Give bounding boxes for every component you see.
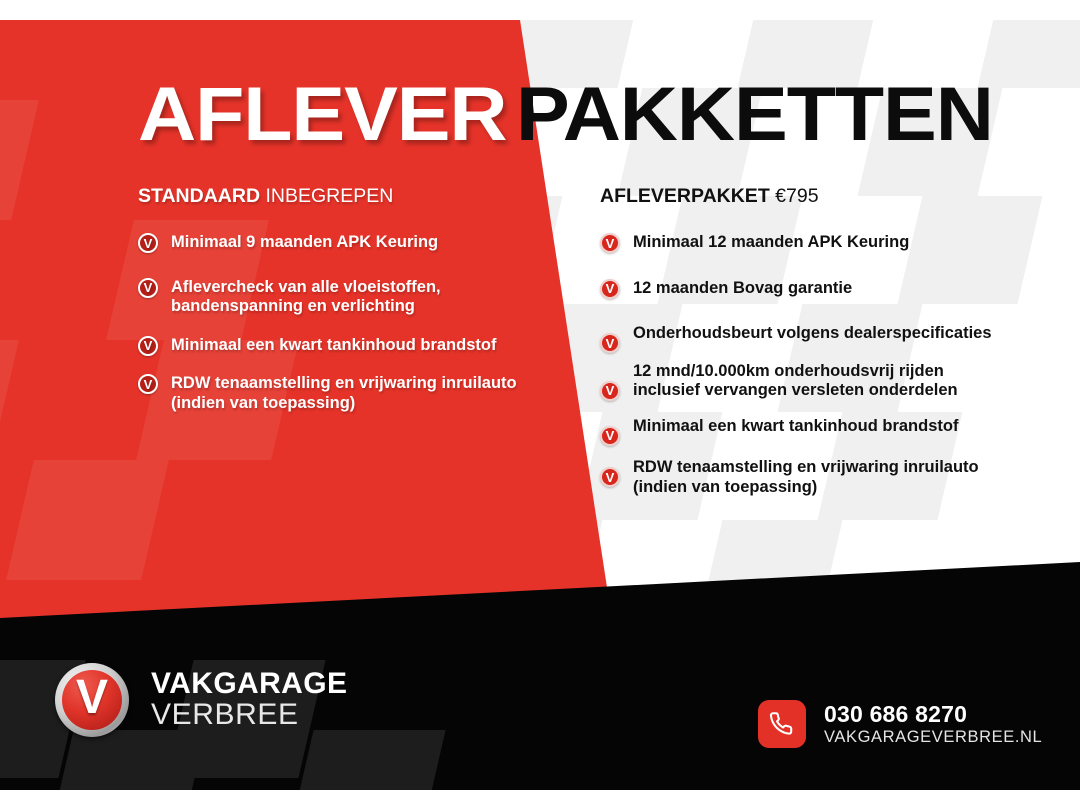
v-glyph: V [140, 376, 156, 392]
website-url[interactable]: VAKGARAGEVERBREE.NL [824, 728, 1042, 746]
phone-handset-icon[interactable] [758, 700, 806, 748]
vakgarage-logo-icon: V [55, 663, 129, 737]
list-item: V Onderhoudsbeurt volgens dealerspecific… [600, 324, 1000, 343]
list-item: V 12 maanden Bovag garantie [600, 279, 1000, 298]
right-subtitle-strong: AFLEVERPAKKET [600, 185, 770, 207]
vakgarage-v-badge-icon: V [600, 381, 620, 401]
list-item: V 12 mnd/10.000km onderhoudsvrij rijden … [600, 362, 1000, 401]
left-subtitle-strong: STANDAARD [138, 185, 260, 207]
brand-name-line2: VERBREE [151, 700, 347, 731]
contact-details: 030 686 8270 VAKGARAGEVERBREE.NL [824, 702, 1042, 746]
list-item-label: Minimaal 9 maanden APK Keuring [171, 233, 438, 251]
top-margin-strip [0, 0, 1080, 20]
page-title-word-aflever: AFLEVER [138, 77, 507, 153]
vakgarage-v-badge-icon: V [600, 233, 620, 253]
v-glyph: V [602, 428, 618, 444]
bottom-margin-strip [0, 790, 1080, 810]
list-item-label: Onderhoudsbeurt volgens dealerspecificat… [633, 324, 992, 342]
v-glyph: V [602, 383, 618, 399]
list-item: V Minimaal 9 maanden APK Keuring [138, 233, 528, 252]
vakgarage-v-badge-icon: V [138, 336, 158, 356]
v-glyph: V [140, 280, 156, 296]
list-item: V Minimaal 12 maanden APK Keuring [600, 233, 1000, 252]
logo-v-glyph: V [55, 663, 129, 737]
vakgarage-v-badge-icon: V [138, 374, 158, 394]
vakgarage-v-badge-icon: V [600, 333, 620, 353]
list-item-label: Minimaal een kwart tankinhoud brandstof [171, 336, 496, 354]
page-title-word-pakketten: PAKKETTEN [516, 77, 993, 153]
left-subtitle-light: INBEGREPEN [265, 185, 393, 207]
v-glyph: V [602, 235, 618, 251]
brand-name: VAKGARAGE VERBREE [151, 669, 347, 730]
vakgarage-v-badge-icon: V [600, 467, 620, 487]
list-item-label: 12 mnd/10.000km onderhoudsvrij rijden in… [633, 362, 958, 399]
list-item: V Aflevercheck van alle vloeistoffen, ba… [138, 278, 528, 317]
list-item-label: RDW tenaamstelling en vrijwaring inruila… [633, 458, 979, 495]
contact-block[interactable]: 030 686 8270 VAKGARAGEVERBREE.NL [758, 700, 1042, 748]
standaard-inbegrepen-column: STANDAARD INBEGREPEN V Minimaal 9 maande… [138, 186, 528, 413]
vakgarage-v-badge-icon: V [600, 279, 620, 299]
list-item: V Minimaal een kwart tankinhoud brandsto… [600, 417, 1000, 436]
phone-number[interactable]: 030 686 8270 [824, 702, 1042, 728]
list-item-label: Minimaal een kwart tankinhoud brandstof [633, 417, 958, 435]
left-column-subtitle: STANDAARD INBEGREPEN [138, 186, 528, 207]
left-column-list: V Minimaal 9 maanden APK Keuring V Aflev… [138, 233, 528, 413]
afleverpakket-column: AFLEVERPAKKET €795 V Minimaal 12 maanden… [600, 186, 1000, 497]
list-item: V RDW tenaamstelling en vrijwaring inrui… [600, 458, 1000, 497]
v-glyph: V [602, 281, 618, 297]
v-glyph: V [602, 335, 618, 351]
brand-logo-block: V VAKGARAGE VERBREE [55, 663, 347, 737]
v-glyph: V [140, 338, 156, 354]
list-item: V RDW tenaamstelling en vrijwaring inrui… [138, 374, 528, 413]
right-column-subtitle: AFLEVERPAKKET €795 [600, 186, 1000, 207]
afleverpakketten-poster: AFLEVER PAKKETTEN STANDAARD INBEGREPEN V… [0, 0, 1080, 810]
list-item-label: RDW tenaamstelling en vrijwaring inruila… [171, 374, 517, 411]
vakgarage-v-badge-icon: V [138, 278, 158, 298]
right-column-list: V Minimaal 12 maanden APK Keuring V 12 m… [600, 233, 1000, 497]
list-item: V Minimaal een kwart tankinhoud brandsto… [138, 336, 528, 355]
list-item-label: 12 maanden Bovag garantie [633, 279, 852, 297]
vakgarage-v-badge-icon: V [138, 233, 158, 253]
v-glyph: V [602, 469, 618, 485]
v-glyph: V [140, 235, 156, 251]
list-item-label: Aflevercheck van alle vloeistoffen, band… [171, 278, 441, 315]
page-title: AFLEVER PAKKETTEN [0, 70, 1080, 160]
vakgarage-v-badge-icon: V [600, 426, 620, 446]
right-subtitle-price: €795 [775, 185, 818, 207]
brand-name-line1: VAKGARAGE [151, 669, 347, 700]
list-item-label: Minimaal 12 maanden APK Keuring [633, 233, 909, 251]
